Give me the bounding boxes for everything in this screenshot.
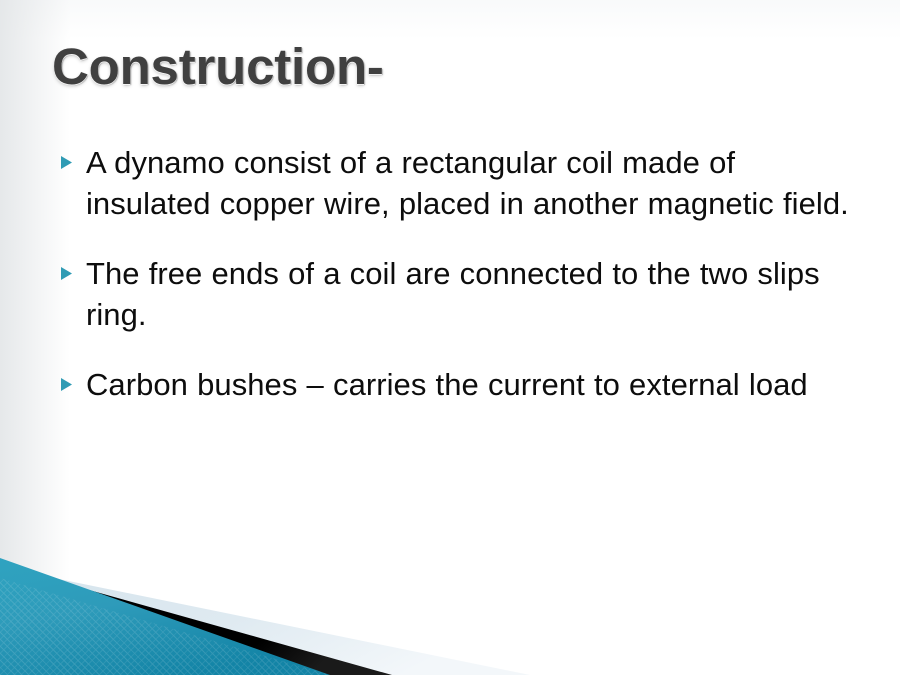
triangle-right-bullet-icon	[60, 253, 86, 281]
presentation-slide: Construction- A dynamo consist of a rect…	[0, 0, 900, 675]
content-placeholder[interactable]: A dynamo consist of a rectangular coil m…	[60, 142, 860, 405]
list-item-text: Carbon bushes – carries the current to e…	[86, 364, 860, 405]
title-placeholder[interactable]: Construction-	[52, 34, 852, 106]
page-title: Construction-	[52, 34, 852, 100]
list-item[interactable]: The free ends of a coil are connected to…	[60, 253, 860, 335]
triangle-right-bullet-icon	[60, 364, 86, 392]
bottom-left-corner-banner	[0, 545, 900, 675]
list-item-text: The free ends of a coil are connected to…	[86, 253, 860, 335]
triangle-right-bullet-icon	[60, 142, 86, 170]
list-item-text: A dynamo consist of a rectangular coil m…	[86, 142, 860, 224]
teal-wedge	[0, 558, 330, 675]
list-item[interactable]: A dynamo consist of a rectangular coil m…	[60, 142, 860, 224]
list-item[interactable]: Carbon bushes – carries the current to e…	[60, 364, 860, 405]
